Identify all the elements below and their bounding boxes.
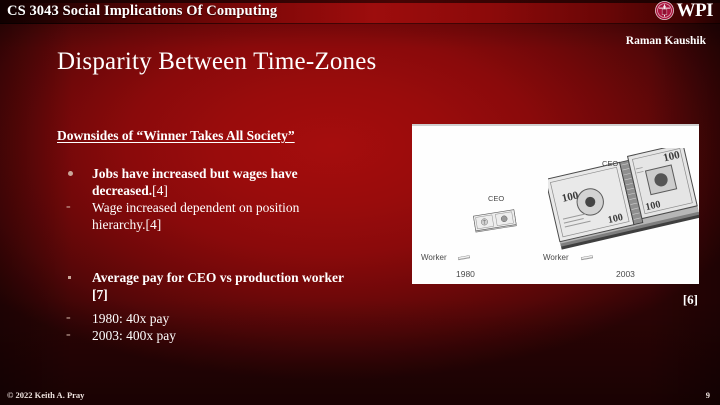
- bullet-marker-spacer: [57, 217, 92, 233]
- bullet-dot-icon: [57, 166, 92, 182]
- dollar-bill-stack-1980-icon: [473, 209, 517, 234]
- image-label-ceo-1980: CEO: [488, 194, 504, 203]
- bullet-item-continuation: [7]: [57, 287, 402, 303]
- dollar-bill-stack-2003-icon: 100 100 100 100: [548, 148, 699, 260]
- bullet-item: - 1980: 40x pay: [57, 311, 402, 327]
- wpi-seal-icon: [655, 1, 674, 20]
- bullet-item-continuation: decreased.[4]: [57, 183, 402, 199]
- image-label-worker-2003: Worker: [543, 253, 569, 262]
- worker-bill-2003-icon: [581, 255, 594, 261]
- ceo-worker-pay-image: CEO Worker 1980: [412, 124, 699, 284]
- bullet-text: Average pay for CEO vs production worker: [92, 270, 402, 286]
- bullet-item: - Wage increased dependent on position: [57, 200, 402, 216]
- author-name: Raman Kaushik: [626, 35, 706, 47]
- bullet-marker-spacer: [57, 183, 92, 199]
- image-label-year-2003: 2003: [616, 269, 635, 279]
- image-label-ceo-2003: CEO: [602, 159, 618, 168]
- bullet-square-icon: [57, 270, 92, 286]
- footer-copyright: © 2022 Keith A. Pray: [7, 390, 84, 400]
- section-heading: Downsides of “Winner Takes All Society”: [57, 128, 295, 144]
- bullet-text-line2: decreased.[4]: [92, 183, 402, 199]
- bullet-text-part: decreased.: [92, 183, 152, 198]
- worker-bill-1980-icon: [458, 255, 471, 261]
- image-canvas: CEO Worker 1980: [412, 126, 699, 284]
- bullet-spacer: [57, 304, 402, 311]
- image-label-worker-1980: Worker: [421, 253, 447, 262]
- bullet-dash-icon: -: [57, 200, 92, 216]
- bullet-marker-spacer: [57, 287, 92, 303]
- bullet-text: Wage increased dependent on position: [92, 200, 402, 216]
- bullet-item-continuation: hierarchy.[4]: [57, 217, 402, 233]
- citation-ref: [4]: [152, 183, 168, 198]
- bullet-item: Jobs have increased but wages have: [57, 166, 402, 182]
- slide-title: Disparity Between Time-Zones: [57, 48, 376, 76]
- wpi-logo: WPI: [655, 1, 714, 20]
- bullet-dash-icon: -: [57, 328, 92, 344]
- slide-root: CS 3043 Social Implications Of Computing…: [0, 0, 720, 405]
- footer-page-number: 9: [706, 390, 710, 400]
- bullet-group-primary: Jobs have increased but wages have decre…: [57, 166, 402, 234]
- bullet-text-line2: hierarchy.[4]: [92, 217, 402, 233]
- bullet-text: Jobs have increased but wages have: [92, 166, 402, 182]
- bullet-group-secondary: Average pay for CEO vs production worker…: [57, 270, 402, 345]
- bullet-item: - 2003: 400x pay: [57, 328, 402, 344]
- wpi-wordmark: WPI: [677, 1, 714, 20]
- bullet-text: 1980: 40x pay: [92, 311, 402, 327]
- image-citation: [6]: [683, 292, 698, 308]
- bullet-dash-icon: -: [57, 311, 92, 327]
- bullet-item: Average pay for CEO vs production worker: [57, 270, 402, 286]
- course-title: CS 3043 Social Implications Of Computing: [7, 3, 277, 20]
- bullet-text-line2: [7]: [92, 287, 402, 303]
- bullet-text: 2003: 400x pay: [92, 328, 402, 344]
- image-label-year-1980: 1980: [456, 269, 475, 279]
